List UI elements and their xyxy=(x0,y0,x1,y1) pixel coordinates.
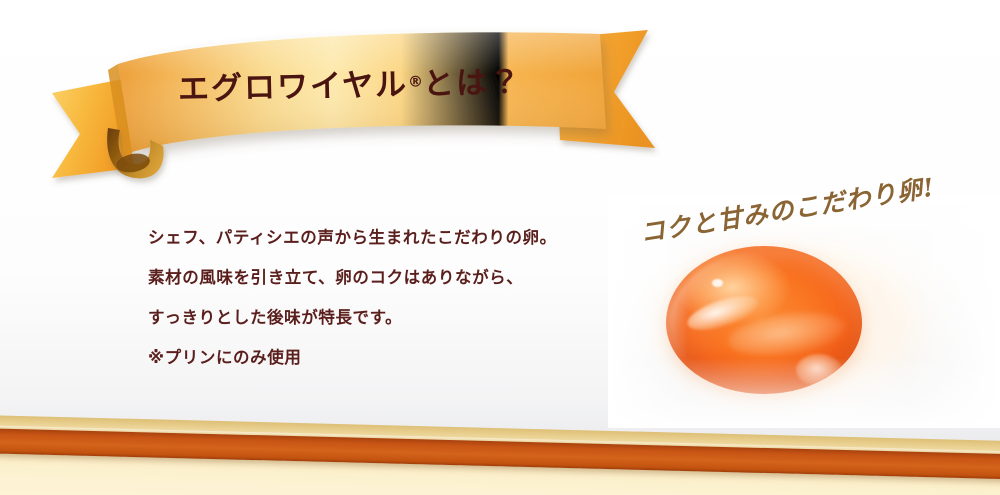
description-note: ※プリンにのみ使用 xyxy=(148,338,628,378)
ribbon-banner: エグロワイヤル®とは？ xyxy=(0,0,700,210)
promo-panel: エグロワイヤル®とは？ シェフ、パティシエの声から生まれたこだわりの卵。 素材の… xyxy=(0,0,1000,495)
page-title-suffix: とは？ xyxy=(423,64,523,102)
page-title-main: エグロワイヤル xyxy=(178,67,409,108)
yolk-small-highlight xyxy=(712,279,723,287)
description-block: シェフ、パティシエの声から生まれたこだわりの卵。 素材の風味を引き立て、卵のコク… xyxy=(148,218,628,378)
page-title: エグロワイヤル®とは？ xyxy=(140,56,561,110)
description-line: シェフ、パティシエの声から生まれたこだわりの卵。 xyxy=(148,218,628,258)
footer-decoration xyxy=(0,385,1000,495)
registered-trademark-icon: ® xyxy=(408,72,423,90)
description-line: すっきりとした後味が特長です。 xyxy=(148,298,628,338)
description-line: 素材の風味を引き立て、卵のコクはありながら、 xyxy=(148,258,628,298)
